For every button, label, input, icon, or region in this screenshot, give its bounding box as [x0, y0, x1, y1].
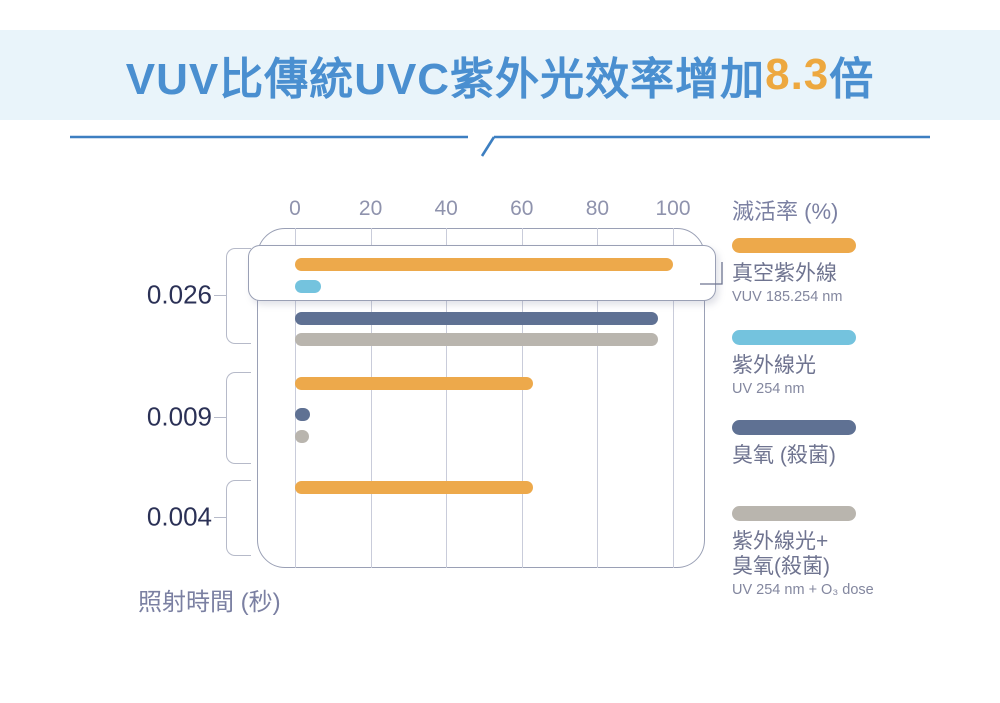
- group-bracket-tick-2: [214, 417, 226, 418]
- legend-item-3[interactable]: 臭氧 (殺菌): [732, 420, 972, 469]
- legend-label-ozone: 臭氧 (殺菌): [732, 444, 972, 469]
- x-axis-title: 照射時間 (秒): [138, 582, 281, 617]
- x-tick-label-60: 60: [510, 197, 533, 221]
- title-suffix: 倍: [829, 43, 874, 107]
- legend-sub-uv-ozone: UV 254 nm + O₃ dose: [732, 582, 972, 598]
- group-bracket-tick-1: [214, 295, 226, 296]
- legend-swatch-vuv: [732, 238, 856, 253]
- x-tick-label-0: 0: [289, 197, 301, 221]
- legend-heading: 滅活率 (%): [732, 194, 980, 226]
- legend-swatch-uv-ozone: [732, 506, 856, 521]
- bar-1-2: [295, 408, 310, 421]
- bar-0-2: [295, 312, 658, 325]
- bar-0-3: [295, 333, 658, 346]
- bar-2-0: [295, 481, 533, 494]
- legend: 滅活率 (%) 真空紫外線 VUV 185.254 nm 紫外線光 UV 254…: [730, 170, 980, 590]
- legend-label-uv: 紫外線光: [732, 354, 972, 379]
- bar-0-1: [295, 280, 321, 293]
- legend-swatch-ozone: [732, 420, 856, 435]
- x-tick-label-100: 100: [655, 197, 690, 221]
- y-label-group-1: 0.026: [147, 280, 212, 311]
- chart-container: 0.026 0.009 0.004 020406080100 照射時間 (秒) …: [0, 170, 1000, 640]
- group-bracket-2: [226, 372, 251, 464]
- y-label-group-3: 0.004: [147, 502, 212, 533]
- title-accent-number: 8.3: [765, 50, 829, 100]
- x-tick-label-80: 80: [586, 197, 609, 221]
- group-bracket-3: [226, 480, 251, 556]
- bar-1-3: [295, 430, 309, 443]
- page-title: VUV比傳統UVC紫外光效率增加8.3倍: [0, 30, 1000, 120]
- y-axis-group-labels: 0.026 0.009 0.004: [0, 170, 212, 640]
- legend-label-uv-ozone-line1: 紫外線光+: [732, 530, 972, 555]
- divider-rule: [70, 128, 930, 158]
- x-tick-label-20: 20: [359, 197, 382, 221]
- legend-swatch-uv: [732, 330, 856, 345]
- legend-item-4[interactable]: 紫外線光+ 臭氧(殺菌) UV 254 nm + O₃ dose: [732, 506, 972, 598]
- y-label-group-2: 0.009: [147, 402, 212, 433]
- legend-item-2[interactable]: 紫外線光 UV 254 nm: [732, 330, 972, 397]
- legend-sub-vuv: VUV 185.254 nm: [732, 289, 972, 305]
- group-bracket-tick-3: [214, 517, 226, 518]
- legend-label-vuv: 真空紫外線: [732, 262, 972, 287]
- title-prefix: VUV比傳統UVC紫外光效率增加: [126, 43, 765, 107]
- legend-sub-uv: UV 254 nm: [732, 381, 972, 397]
- bar-1-0: [295, 377, 533, 390]
- legend-label-uv-ozone-line2: 臭氧(殺菌): [732, 555, 972, 580]
- bar-0-0: [295, 258, 673, 271]
- highlight-callout-box: [248, 245, 716, 301]
- legend-item-1[interactable]: 真空紫外線 VUV 185.254 nm: [732, 238, 972, 305]
- x-tick-label-40: 40: [435, 197, 458, 221]
